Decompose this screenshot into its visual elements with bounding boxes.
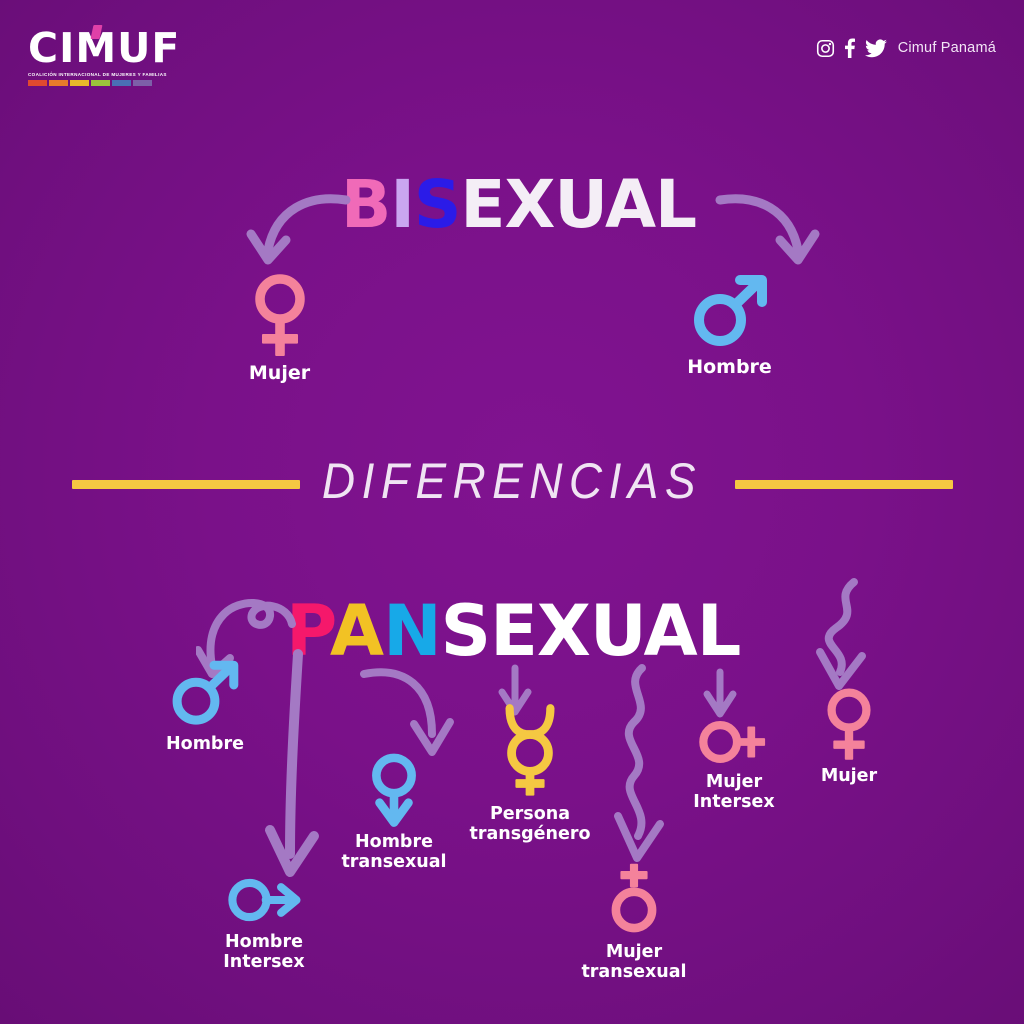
mars-symbol (167, 658, 243, 730)
divider-rule-right (735, 480, 953, 489)
facebook-icon[interactable] (844, 38, 856, 58)
logo-wordmark: CIMUF (28, 28, 198, 69)
item-label-line2: transexual (568, 963, 700, 983)
item-mujer-pansexual: Mujer (790, 686, 908, 787)
logo-tagline: COALICIÓN INTERNACIONAL DE MUJERES Y FAM… (28, 72, 198, 77)
logo-swatch-0 (28, 80, 47, 86)
item-mujer-intersex: Mujer Intersex (668, 716, 800, 812)
twitter-icon[interactable] (865, 39, 887, 58)
item-mujer-bisexual: Mujer (222, 272, 337, 384)
item-persona-transgenero: Persona transgénero (462, 702, 598, 844)
item-label: Hombre (140, 735, 270, 755)
item-mujer-transexual: Mujer transexual (568, 862, 700, 982)
logo-swatch-2 (70, 80, 89, 86)
bisexual-title: BISEXUAL (341, 172, 696, 238)
item-label: Mujer (790, 767, 908, 787)
venus-symbol (822, 686, 876, 762)
pansexual-title: PANSEXUAL (286, 596, 740, 666)
mars-symbol (688, 272, 772, 352)
logo-swatch-5 (133, 80, 152, 86)
item-label: Mujer (668, 773, 800, 793)
item-label: Hombre (328, 833, 460, 853)
item-label: Mujer (222, 363, 337, 384)
social-handle: Cimuf Panamá (898, 40, 996, 56)
instagram-icon[interactable] (816, 39, 835, 58)
item-label-line2: transexual (328, 853, 460, 873)
mars-intersex-symbol (223, 872, 305, 928)
arrow-pan-mujer (776, 576, 886, 696)
item-label: Mujer (568, 943, 700, 963)
transgender-symbol (497, 702, 563, 800)
logo-swatch-4 (112, 80, 131, 86)
trans-woman-symbol (605, 862, 663, 938)
infographic-canvas: CIMUF COALICIÓN INTERNACIONAL DE MUJERES… (0, 0, 1024, 1024)
venus-intersex-symbol (696, 716, 772, 768)
item-hombre-intersex: Hombre Intersex (198, 872, 330, 972)
item-label-line2: transgénero (462, 825, 598, 845)
item-label: Persona (462, 805, 598, 825)
arrow-bisexual-right (708, 186, 828, 276)
pansexual-title-part-3: SEXUAL (441, 590, 741, 672)
bisexual-title-part-3: EXUAL (460, 166, 696, 243)
item-label-line2: Intersex (668, 793, 800, 813)
item-hombre-pansexual: Hombre (140, 658, 270, 755)
bisexual-title-part-2: S (414, 166, 461, 243)
bisexual-title-part-1: I (390, 166, 414, 243)
venus-symbol (249, 272, 311, 358)
item-label-line2: Intersex (198, 953, 330, 973)
trans-man-symbol (365, 752, 423, 828)
logo-color-swatches (28, 80, 198, 86)
item-label: Hombre (672, 357, 787, 378)
arrow-bisexual-left (238, 186, 358, 276)
item-hombre-bisexual: Hombre (672, 272, 787, 378)
item-hombre-transexual: Hombre transexual (328, 752, 460, 872)
logo-swatch-3 (91, 80, 110, 86)
social-header: Cimuf Panamá (816, 38, 996, 58)
item-label: Hombre (198, 933, 330, 953)
section-divider: DIFERENCIAS (0, 452, 1024, 514)
logo-swatch-1 (49, 80, 68, 86)
cimuf-logo: CIMUF COALICIÓN INTERNACIONAL DE MUJERES… (28, 28, 198, 86)
